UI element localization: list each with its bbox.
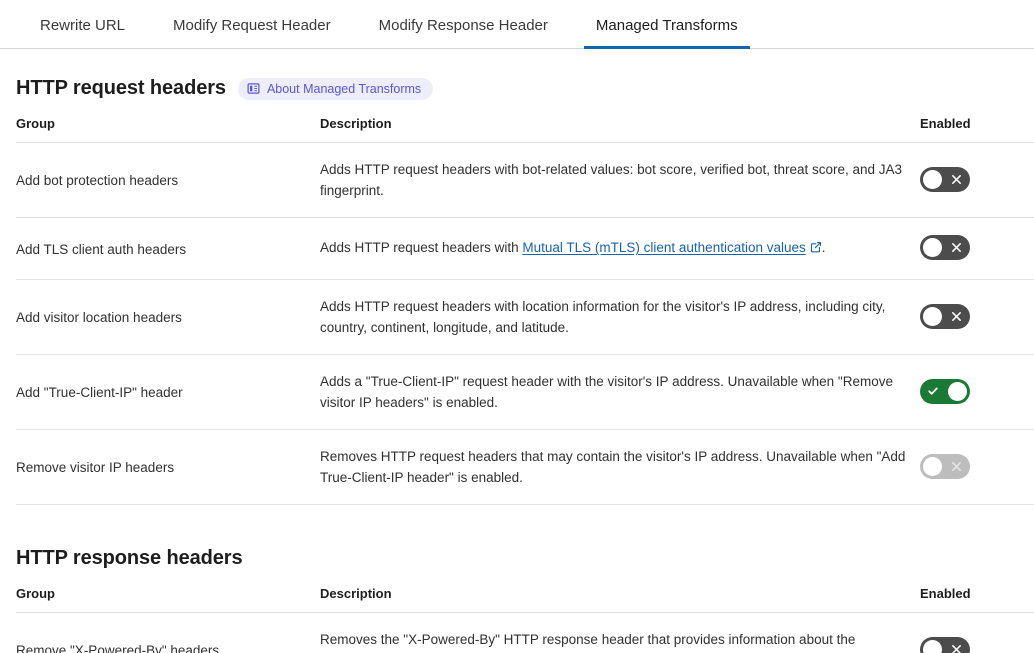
cross-icon <box>951 235 962 260</box>
toggle-knob <box>923 457 942 476</box>
table-row: Remove "X-Powered-By" headers Removes th… <box>16 613 1034 653</box>
tab-rewrite-url[interactable]: Rewrite URL <box>16 17 149 48</box>
row-enabled-cell <box>920 218 1034 280</box>
table-row: Add "True-Client-IP" header Adds a "True… <box>16 355 1034 430</box>
row-group-name: Remove "X-Powered-By" headers <box>16 613 320 653</box>
cross-icon <box>951 637 962 653</box>
toggle-knob <box>923 238 942 257</box>
tab-modify-request-header[interactable]: Modify Request Header <box>149 17 355 48</box>
toggle-remove-visitor-ip-headers <box>920 454 970 479</box>
toggle-add-tls-client-auth-headers[interactable] <box>920 235 970 260</box>
row-group-name: Remove visitor IP headers <box>16 430 320 505</box>
description-text-before: Adds HTTP request headers with <box>320 240 522 255</box>
response-headers-table: Group Description Enabled Remove "X-Powe… <box>16 586 1034 653</box>
toggle-knob <box>923 640 942 653</box>
about-badge-label: About Managed Transforms <box>267 82 421 96</box>
row-enabled-cell <box>920 430 1034 505</box>
cross-icon <box>951 454 962 479</box>
about-managed-transforms-badge[interactable]: About Managed Transforms <box>238 78 433 100</box>
row-description: Adds HTTP request headers with bot-relat… <box>320 143 920 218</box>
row-description: Adds HTTP request headers with location … <box>320 280 920 355</box>
cross-icon <box>951 167 962 192</box>
request-section-header: HTTP request headers About Managed Trans… <box>16 49 1018 116</box>
row-group-name: Add TLS client auth headers <box>16 218 320 280</box>
toggle-knob <box>923 170 942 189</box>
row-description: Adds HTTP request headers with Mutual TL… <box>320 218 920 280</box>
request-headers-table: Group Description Enabled Add bot protec… <box>16 116 1034 505</box>
table-header-row: Group Description Enabled <box>16 586 1034 613</box>
row-group-name: Add "True-Client-IP" header <box>16 355 320 430</box>
table-row: Add TLS client auth headers Adds HTTP re… <box>16 218 1034 280</box>
mtls-docs-link[interactable]: Mutual TLS (mTLS) client authentication … <box>522 240 805 255</box>
column-header-enabled: Enabled <box>920 586 1034 613</box>
row-enabled-cell <box>920 355 1034 430</box>
table-row: Remove visitor IP headers Removes HTTP r… <box>16 430 1034 505</box>
row-enabled-cell <box>920 613 1034 653</box>
tab-bar: Rewrite URL Modify Request Header Modify… <box>0 0 1034 49</box>
table-row: Add visitor location headers Adds HTTP r… <box>16 280 1034 355</box>
row-enabled-cell <box>920 280 1034 355</box>
table-header-row: Group Description Enabled <box>16 116 1034 143</box>
row-description: Removes the "X-Powered-By" HTTP response… <box>320 613 920 653</box>
description-text-after: . <box>822 240 826 255</box>
external-link-icon <box>810 239 822 260</box>
tab-managed-transforms[interactable]: Managed Transforms <box>572 17 762 48</box>
column-header-enabled: Enabled <box>920 116 1034 143</box>
http-request-headers-section: HTTP request headers About Managed Trans… <box>0 49 1034 505</box>
check-icon <box>927 379 939 404</box>
managed-transforms-page: Rewrite URL Modify Request Header Modify… <box>0 0 1034 653</box>
toggle-add-bot-protection-headers[interactable] <box>920 167 970 192</box>
toggle-add-visitor-location-headers[interactable] <box>920 304 970 329</box>
column-header-group: Group <box>16 116 320 143</box>
request-section-title: HTTP request headers <box>16 77 226 100</box>
toggle-remove-x-powered-by-headers[interactable] <box>920 637 970 653</box>
response-section-header: HTTP response headers <box>16 505 1018 586</box>
row-enabled-cell <box>920 143 1034 218</box>
tab-modify-response-header[interactable]: Modify Response Header <box>355 17 572 48</box>
toggle-knob <box>923 307 942 326</box>
column-header-group: Group <box>16 586 320 613</box>
http-response-headers-section: HTTP response headers Group Description … <box>0 505 1034 653</box>
toggle-add-true-client-ip-header[interactable] <box>920 379 970 404</box>
column-header-description: Description <box>320 116 920 143</box>
toggle-knob <box>948 382 967 401</box>
response-section-title: HTTP response headers <box>16 547 243 570</box>
row-group-name: Add bot protection headers <box>16 143 320 218</box>
table-row: Add bot protection headers Adds HTTP req… <box>16 143 1034 218</box>
book-icon <box>247 82 260 95</box>
column-header-description: Description <box>320 586 920 613</box>
row-description: Removes HTTP request headers that may co… <box>320 430 920 505</box>
cross-icon <box>951 304 962 329</box>
row-description: Adds a "True-Client-IP" request header w… <box>320 355 920 430</box>
row-group-name: Add visitor location headers <box>16 280 320 355</box>
